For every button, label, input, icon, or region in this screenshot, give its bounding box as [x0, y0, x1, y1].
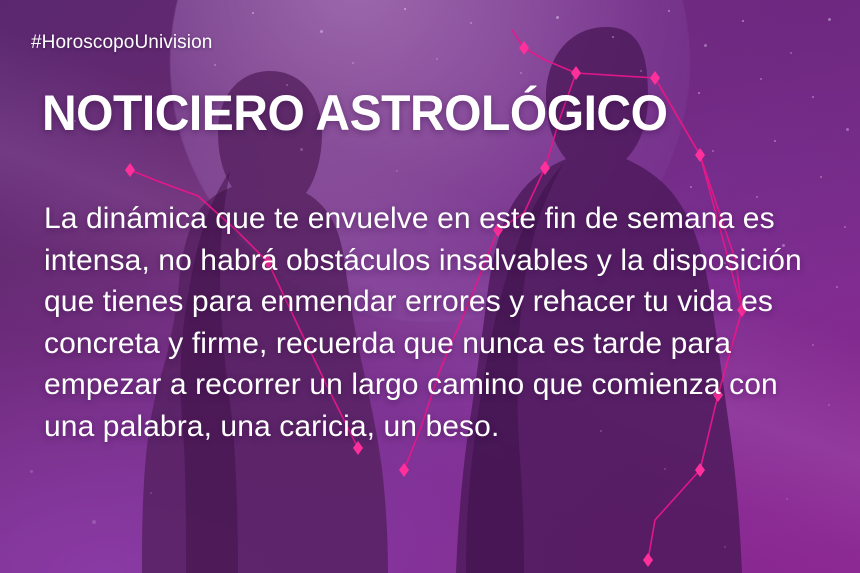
page-title: NOTICIERO ASTROLÓGICO	[42, 86, 667, 140]
hashtag-label: #HoroscopoUnivision	[31, 32, 212, 54]
horoscope-body-text: La dinámica que te envuelve en este fin …	[44, 198, 824, 447]
horoscope-card: #HoroscopoUnivision NOTICIERO ASTROLÓGIC…	[0, 0, 860, 573]
